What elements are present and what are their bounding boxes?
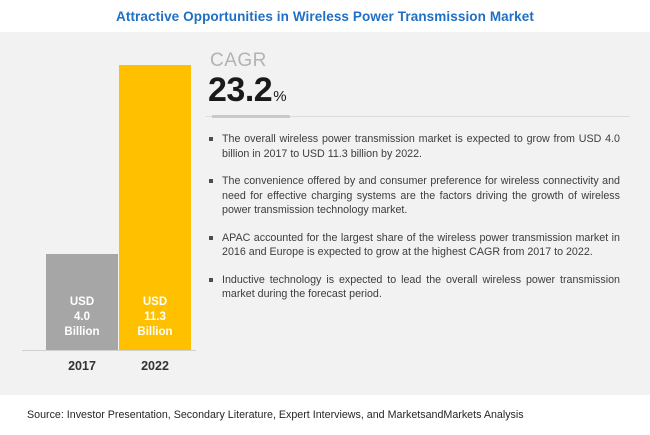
infographic-root: Attractive Opportunities in Wireless Pow… — [0, 0, 650, 435]
bullet-text: APAC accounted for the largest share of … — [222, 232, 620, 259]
cagr-percent-sign: % — [273, 88, 286, 105]
bar-chart: USD 4.0 Billion USD 11.3 Billion 2017 20… — [22, 32, 202, 395]
bar-2022-label: USD 11.3 Billion — [119, 295, 191, 340]
bullet-square-icon — [209, 236, 213, 240]
bar-2022-label-line2: 11.3 — [119, 310, 191, 325]
bullet-square-icon — [209, 179, 213, 183]
axis-label-2017: 2017 — [46, 359, 118, 373]
list-item: The convenience offered by and consumer … — [206, 174, 634, 218]
bar-2022[interactable]: USD 11.3 Billion — [119, 65, 191, 350]
cagr-value-row: 23.2 % — [208, 72, 287, 108]
bar-2017-label: USD 4.0 Billion — [46, 295, 118, 340]
bullet-list: The overall wireless power transmission … — [206, 132, 634, 302]
list-item: The overall wireless power transmission … — [206, 132, 634, 161]
bar-2017-label-line1: USD — [46, 295, 118, 310]
bar-2017-label-line3: Billion — [46, 325, 118, 340]
bar-2022-label-line1: USD — [119, 295, 191, 310]
bullet-text: Inductive technology is expected to lead… — [222, 274, 620, 301]
page-title: Attractive Opportunities in Wireless Pow… — [116, 9, 534, 24]
content-column: CAGR 23.2 % The overall wireless power t… — [206, 32, 634, 395]
bar-2017[interactable]: USD 4.0 Billion — [46, 254, 118, 350]
bullet-square-icon — [209, 137, 213, 141]
axis-year-labels: 2017 2022 — [22, 359, 196, 379]
footer-bar: Source: Investor Presentation, Secondary… — [0, 395, 650, 435]
chart-baseline — [22, 350, 196, 351]
bar-2022-label-line3: Billion — [119, 325, 191, 340]
bullet-square-icon — [209, 278, 213, 282]
divider-accent — [212, 115, 290, 118]
bullet-text: The overall wireless power transmission … — [222, 133, 620, 160]
source-text: Source: Investor Presentation, Secondary… — [27, 409, 524, 421]
bullet-text: The convenience offered by and consumer … — [222, 175, 620, 216]
title-bar: Attractive Opportunities in Wireless Pow… — [0, 0, 650, 32]
content-panel: USD 4.0 Billion USD 11.3 Billion 2017 20… — [0, 32, 650, 395]
list-item: Inductive technology is expected to lead… — [206, 273, 634, 302]
cagr-label: CAGR — [210, 50, 267, 72]
cagr-value: 23.2 — [208, 72, 272, 108]
axis-label-2022: 2022 — [119, 359, 191, 373]
list-item: APAC accounted for the largest share of … — [206, 231, 634, 260]
bar-2017-label-line2: 4.0 — [46, 310, 118, 325]
